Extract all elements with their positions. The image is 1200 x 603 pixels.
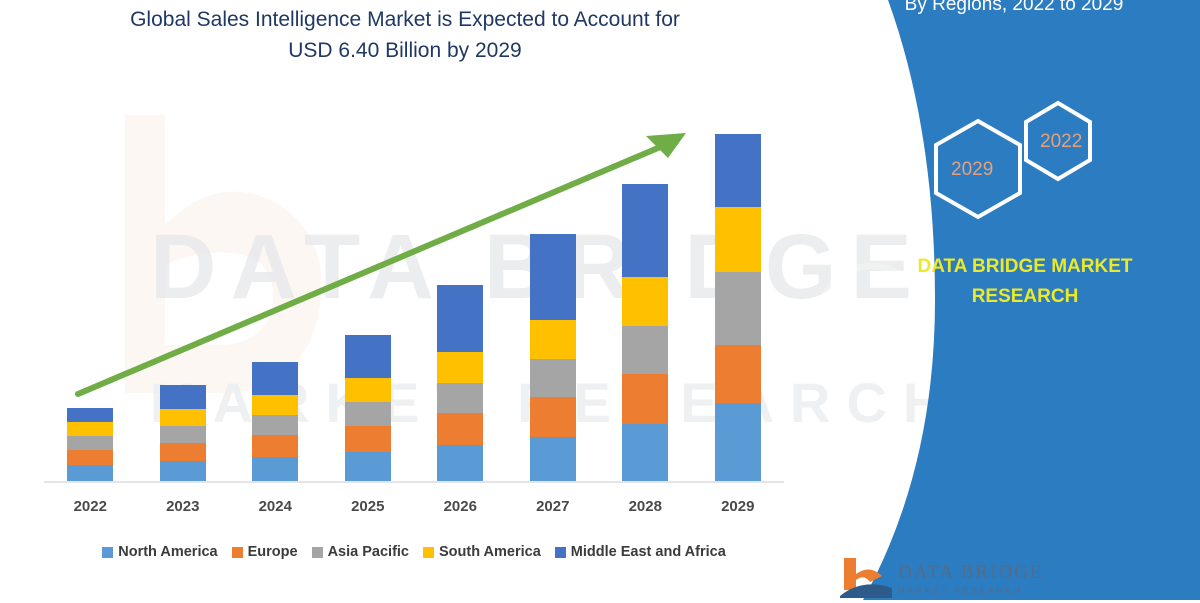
brand-name: DATA BRIDGE MARKET RESEARCH [880,252,1170,312]
x-axis-label-2023: 2023 [160,498,206,520]
legend-item-4[interactable]: Middle East and Africa [555,544,726,560]
bar-segment [345,452,391,481]
legend-label: Europe [248,544,298,560]
x-axis-label-2028: 2028 [622,498,668,520]
x-axis-label-2027: 2027 [530,498,576,520]
bar-segment [345,378,391,402]
bar-2024[interactable] [252,362,298,481]
legend-item-0[interactable]: North America [102,544,217,560]
bar-segment [252,457,298,481]
bar-segment [715,134,761,207]
legend-swatch-icon [312,547,323,558]
chart-title-line2: USD 6.40 Billion by 2029 [288,39,521,62]
bar-segment [715,272,761,345]
footer-logo-subtext: MARKET RESEARCH [898,586,1023,595]
bar-segment [715,345,761,403]
bar-segment [252,435,298,457]
bar-segment [622,184,668,277]
bar-segment [160,426,206,443]
bar-segment [67,450,113,465]
page-title: Global Sales Intelligence Market is Expe… [90,4,720,66]
bar-2027[interactable] [530,234,576,481]
legend-label: Asia Pacific [328,544,409,560]
bar-segment [345,402,391,426]
bar-segment [622,424,668,481]
x-axis-line [44,481,784,483]
legend-item-3[interactable]: South America [423,544,541,560]
hexagon-label-2022: 2022 [1040,131,1082,153]
x-axis-labels: 20222023202420252026202720282029 [44,498,784,520]
x-axis-label-2022: 2022 [67,498,113,520]
legend-item-2[interactable]: Asia Pacific [312,544,409,560]
bar-segment [715,403,761,481]
hexagon-group: 2022 2029 [920,95,1120,225]
bar-segment [437,445,483,481]
bar-segment [252,395,298,415]
bar-segment [530,320,576,359]
legend-swatch-icon [232,547,243,558]
bar-segment [530,234,576,320]
bar-2029[interactable] [715,134,761,481]
bar-segment [345,426,391,452]
bar-2023[interactable] [160,385,206,481]
bridge-logo-icon [840,556,892,598]
bar-segment [160,461,206,481]
bar-segment [67,422,113,436]
legend-swatch-icon [555,547,566,558]
chart-legend: North AmericaEuropeAsia PacificSouth Ame… [44,540,784,564]
bar-segment [437,352,483,383]
footer-logo-text: DATA BRIDGE [898,562,1044,584]
bar-segment [252,362,298,395]
legend-swatch-icon [102,547,113,558]
bar-segment [622,326,668,374]
right-panel-heading: By Regions, 2022 to 2029 [828,0,1200,16]
bar-segment [252,415,298,435]
bar-segment [67,436,113,450]
bar-segment [160,385,206,409]
bar-segment [437,285,483,352]
bar-segment [160,443,206,461]
legend-label: North America [118,544,217,560]
bar-segment [530,397,576,437]
legend-label: Middle East and Africa [571,544,726,560]
bar-segment [67,408,113,422]
x-axis-label-2026: 2026 [437,498,483,520]
bar-segment [622,374,668,424]
bar-2026[interactable] [437,285,483,481]
bar-segment [437,413,483,445]
brand-line1: DATA BRIDGE MARKET [918,256,1133,277]
brand-line2: RESEARCH [972,286,1079,307]
bar-segment [160,409,206,426]
legend-label: South America [439,544,541,560]
bar-segment [715,207,761,272]
chart-title-line1: Global Sales Intelligence Market is Expe… [130,8,680,31]
infographic-canvas: DATA BRIDGE MARKET RESEARCH Global Sales… [0,0,1200,600]
bar-2028[interactable] [622,184,668,481]
bar-segment [530,437,576,481]
bar-segment [622,277,668,326]
stacked-bar-group [44,110,784,481]
bar-2022[interactable] [67,408,113,481]
legend-swatch-icon [423,547,434,558]
bar-segment [530,359,576,397]
footer-logo: DATA BRIDGE MARKET RESEARCH [840,556,1100,600]
x-axis-label-2025: 2025 [345,498,391,520]
bar-segment [437,383,483,413]
x-axis-label-2029: 2029 [715,498,761,520]
bar-2025[interactable] [345,335,391,481]
bar-segment [345,335,391,378]
legend-item-1[interactable]: Europe [232,544,298,560]
x-axis-label-2024: 2024 [252,498,298,520]
bar-segment [67,465,113,481]
hexagon-label-2029: 2029 [951,159,993,181]
